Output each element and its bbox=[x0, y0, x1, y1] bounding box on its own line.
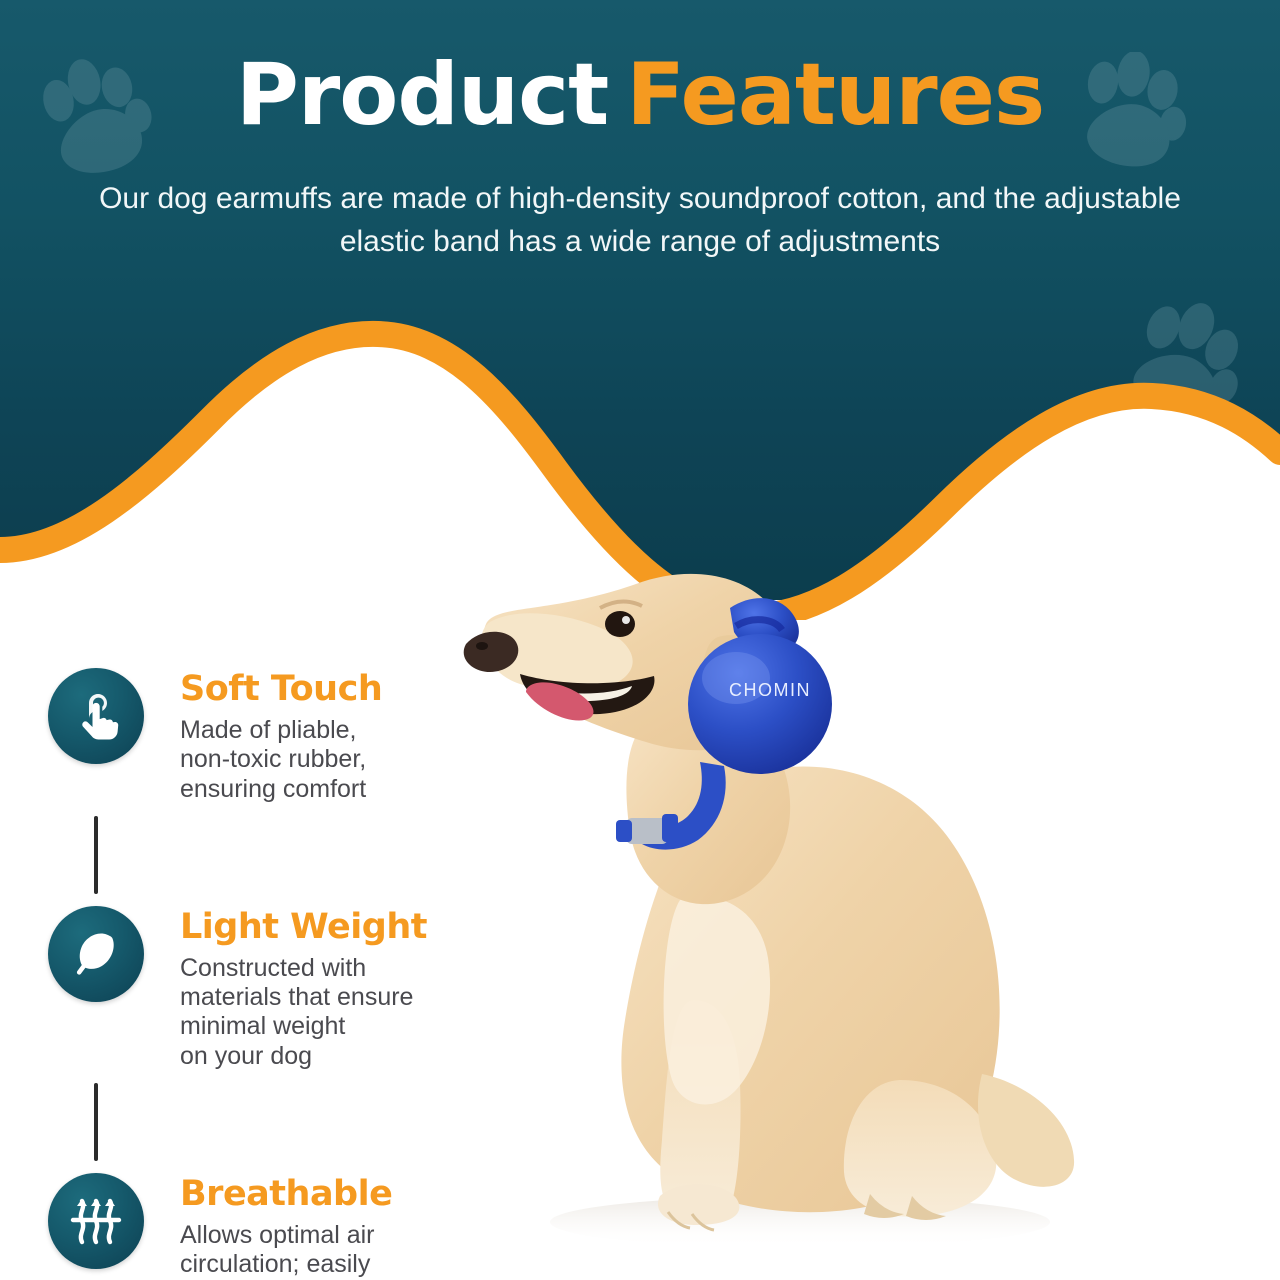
page-title: ProductFeatures bbox=[0, 52, 1280, 138]
title-word-product: Product bbox=[236, 45, 608, 145]
feature-item-breathable: Breathable Allows optimal air circulatio… bbox=[48, 1173, 518, 1280]
feature-item-soft-touch: Soft Touch Made of pliable, non-toxic ru… bbox=[48, 668, 518, 804]
dog-eye bbox=[605, 611, 635, 637]
product-photo-dog-wearing-earmuffs: CHOMIN bbox=[430, 480, 1190, 1280]
feature-text-soft-touch: Soft Touch Made of pliable, non-toxic ru… bbox=[144, 668, 382, 804]
feather-icon bbox=[48, 906, 144, 1002]
feature-item-light-weight: Light Weight Constructed with materials … bbox=[48, 906, 518, 1071]
feature-list: Soft Touch Made of pliable, non-toxic ru… bbox=[48, 668, 518, 1280]
feature-title: Breathable bbox=[180, 1177, 392, 1212]
title-word-features: Features bbox=[626, 45, 1044, 145]
hand-touch-icon bbox=[48, 668, 144, 764]
airflow-icon bbox=[48, 1173, 144, 1269]
earmuff-cup bbox=[688, 634, 832, 774]
strap-buckle bbox=[626, 818, 668, 844]
page-subtitle: Our dog earmuffs are made of high-densit… bbox=[70, 178, 1210, 263]
feature-connector-line bbox=[94, 816, 98, 894]
feature-description: Allows optimal air circulation; easily m… bbox=[180, 1221, 392, 1280]
feature-connector-line bbox=[94, 1083, 98, 1161]
feature-text-breathable: Breathable Allows optimal air circulatio… bbox=[144, 1173, 392, 1280]
feature-text-light-weight: Light Weight Constructed with materials … bbox=[144, 906, 427, 1071]
feature-description: Made of pliable, non-toxic rubber, ensur… bbox=[180, 716, 382, 804]
earmuff-brand-label: CHOMIN bbox=[729, 680, 811, 700]
feature-description: Constructed with materials that ensure m… bbox=[180, 954, 427, 1071]
infographic-canvas: ProductFeatures Our dog earmuffs are mad… bbox=[0, 0, 1280, 1280]
feature-title: Soft Touch bbox=[180, 672, 382, 707]
feature-title: Light Weight bbox=[180, 910, 427, 945]
